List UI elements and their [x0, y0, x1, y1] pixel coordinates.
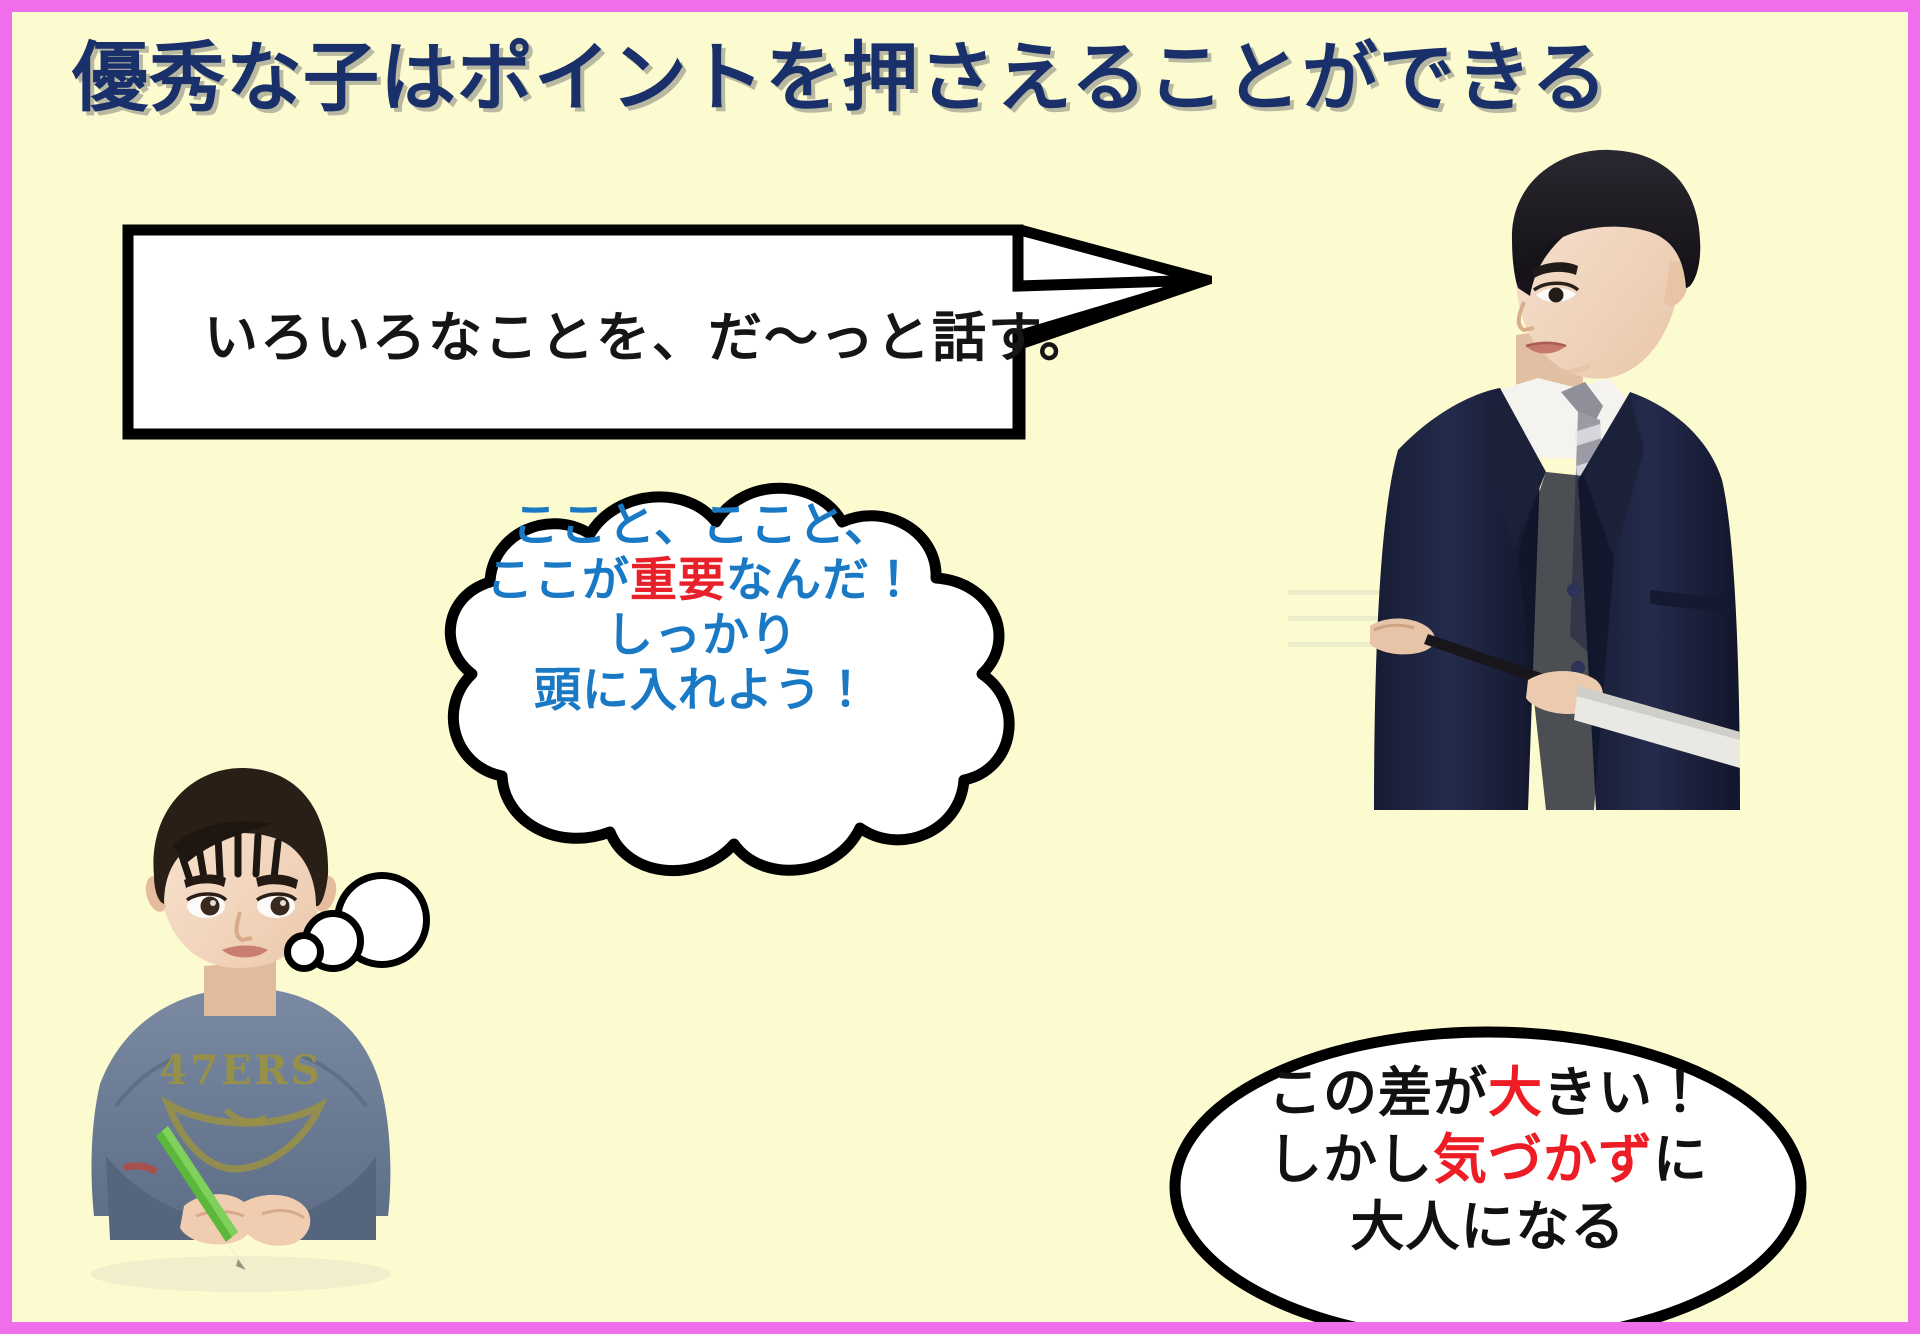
thought-cloud-student: ここと、ここと、ここが重要なんだ！しっかり頭に入れよう！ [342, 460, 1062, 910]
plain-text: ここが [486, 553, 630, 608]
text-line: この差が大きい！ [1168, 1060, 1808, 1127]
svg-text:47ERS: 47ERS [159, 1047, 322, 1094]
highlighted-text: 気づかず [1433, 1128, 1653, 1191]
plain-text: に [1653, 1128, 1708, 1191]
highlighted-text: 大 [1488, 1061, 1543, 1124]
plain-text: きい！ [1543, 1061, 1708, 1124]
text-line: ここと、ここと、 [342, 498, 1062, 553]
photo-man-teacher [1278, 120, 1748, 810]
plain-text: しかし [1268, 1128, 1433, 1191]
text-line: しかし気づかずに [1168, 1127, 1808, 1194]
conclusion-ellipse-bubble: この差が大きい！しかし気づかずに大人になる [1168, 1026, 1808, 1334]
plain-text: なんだ！ [726, 553, 918, 608]
text-line: ここが重要なんだ！ [342, 553, 1062, 608]
slide-frame: 優秀な子はポイントを押さえることができる [0, 0, 1920, 1334]
text-line: しっかり [342, 608, 1062, 663]
speech-bubble-text: いろいろなことを、だ〜っと話す。 [204, 224, 1095, 440]
text-line: 頭に入れよう！ [342, 663, 1062, 718]
highlighted-text: 重要 [630, 553, 726, 608]
plain-text: 大人になる [1351, 1195, 1626, 1258]
text-line: 大人になる [1168, 1194, 1808, 1261]
conclusion-bubble-text: この差が大きい！しかし気づかずに大人になる [1168, 1060, 1808, 1261]
plain-text: 頭に入れよう！ [534, 663, 870, 718]
plain-text: この差が [1268, 1061, 1488, 1124]
page-title: 優秀な子はポイントを押さえることができる [72, 38, 1608, 118]
plain-text: しっかり [606, 608, 798, 663]
plain-text: ここと、ここと、 [512, 498, 892, 553]
thought-cloud-text: ここと、ここと、ここが重要なんだ！しっかり頭に入れよう！ [342, 498, 1062, 718]
thought-tail-dot-small [284, 932, 324, 972]
speech-bubble-teacher: いろいろなことを、だ〜っと話す。 [122, 224, 1212, 440]
